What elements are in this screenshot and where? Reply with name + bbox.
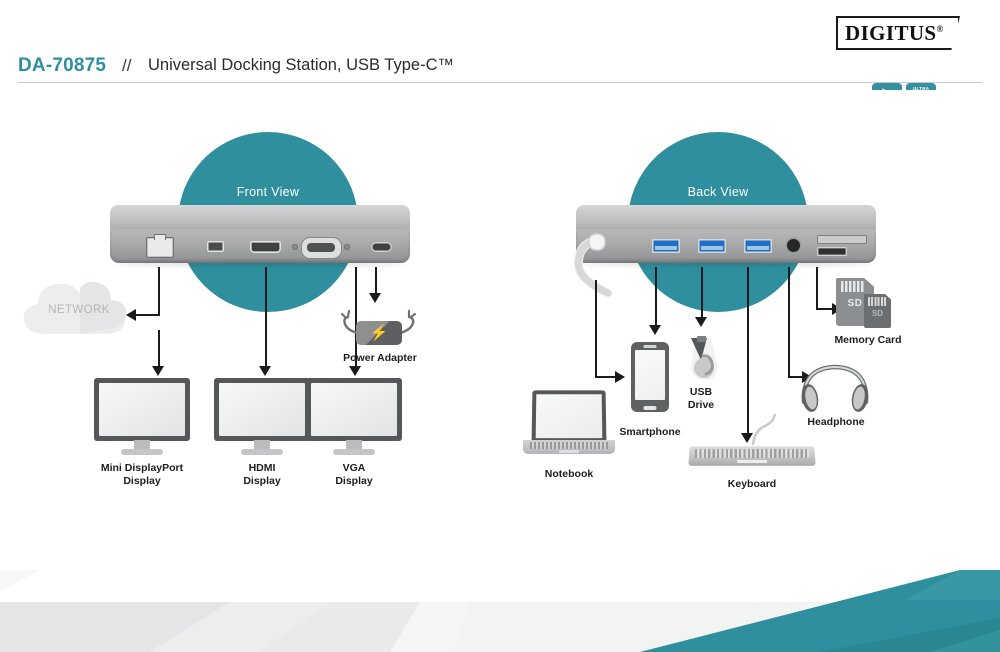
arrow-to-minidp-display — [152, 366, 164, 376]
microsd-card-contacts — [868, 297, 886, 306]
usb-c-host-cable — [570, 231, 640, 311]
title-separator: // — [122, 56, 131, 76]
arrow-to-hdmi-display — [259, 366, 271, 376]
display-mini-displayport — [94, 378, 190, 456]
line-keyboard-vertical — [747, 267, 749, 435]
port-usb3-2[interactable] — [698, 239, 726, 253]
lightning-bolt-icon: ⚡ — [370, 326, 389, 341]
front-view-label: Front View — [178, 185, 358, 199]
footer-decoration — [0, 570, 1000, 652]
notebook-touchpad — [559, 450, 579, 453]
label-line-1: VGA — [343, 462, 366, 474]
line-power-vertical — [375, 267, 377, 295]
label-usb-drive: USB Drive — [668, 386, 734, 411]
label-line-2: Display — [243, 475, 280, 487]
power-adapter-brick: ⚡ — [356, 321, 402, 345]
label-notebook: Notebook — [523, 468, 615, 481]
dock-back-top-shell — [576, 205, 876, 231]
slot-microsd-card[interactable] — [817, 247, 847, 256]
product-code: DA-70875 — [18, 55, 106, 77]
notebook-lid — [532, 390, 607, 442]
sd-card-contacts — [841, 281, 865, 292]
label-line-1: HDMI — [249, 462, 276, 474]
arrow-to-usb-drive — [695, 317, 707, 327]
label-line-2: Drive — [688, 399, 714, 411]
monitor-base — [333, 449, 375, 455]
title-divider — [18, 82, 982, 83]
label-vga-display: VGA Display — [290, 462, 418, 487]
display-hdmi — [214, 378, 310, 456]
title-row: DA-70875 // Universal Docking Station, U… — [18, 55, 982, 79]
keyboard-spacebar — [737, 460, 767, 463]
dock-front-top-shell — [110, 205, 410, 231]
label-line-1: Mini DisplayPort — [101, 462, 183, 474]
monitor-base — [121, 449, 163, 455]
network-cloud-label: NETWORK — [18, 304, 140, 316]
logo-inner: DIGITUS® — [836, 16, 960, 50]
port-vga[interactable] — [301, 237, 342, 259]
vga-screw-left-icon — [292, 244, 298, 250]
diagram-panel: Front View Back View — [18, 90, 982, 570]
port-usb3-1[interactable] — [652, 239, 680, 253]
microsd-card-graphic: SD — [864, 294, 891, 328]
slide-canvas: DIGITUS® DA-70875 // Universal Docking S… — [0, 0, 1000, 652]
smartphone-screen — [635, 350, 665, 400]
dock-back-view — [576, 205, 876, 267]
device-keyboard — [689, 440, 815, 472]
port-audio-jack[interactable] — [787, 239, 800, 252]
digitus-logo: DIGITUS® — [836, 16, 960, 50]
smartphone-speaker — [644, 345, 657, 348]
smartphone-home-button — [644, 406, 657, 410]
product-name: Universal Docking Station, USB Type-C™ — [148, 56, 454, 75]
notebook-keyboard — [530, 442, 608, 449]
line-hdmi-vertical — [265, 267, 267, 368]
line-usb-drive-vertical — [701, 267, 703, 319]
label-smartphone: Smartphone — [604, 426, 696, 439]
line-smartphone-vertical — [655, 267, 657, 327]
slot-sd-card[interactable] — [817, 235, 867, 244]
power-adapter-graphic: ⚡ — [338, 305, 420, 351]
back-view-label: Back View — [628, 185, 808, 199]
device-headphone — [796, 358, 874, 414]
label-mini-displayport-display: Mini DisplayPort Display — [78, 462, 206, 487]
monitor-screen — [311, 383, 397, 436]
logo-wordmark: DIGITUS® — [845, 23, 944, 44]
arrow-to-power-adapter — [369, 293, 381, 303]
arrow-to-notebook — [615, 371, 625, 383]
network-cloud: NETWORK — [18, 276, 140, 338]
arrow-to-smartphone — [649, 325, 661, 335]
label-line-2: Display — [335, 475, 372, 487]
device-smartphone — [631, 342, 669, 412]
power-adapter-label: Power Adapter — [334, 352, 426, 365]
line-ethernet-vertical — [158, 267, 160, 316]
label-memory-card: Memory Card — [816, 334, 920, 347]
dock-front-shadow — [114, 261, 406, 266]
monitor-base — [241, 449, 283, 455]
label-line-2: Display — [123, 475, 160, 487]
port-mini-displayport[interactable] — [207, 241, 224, 252]
label-line-1: USB — [690, 386, 712, 398]
keyboard-keys — [695, 449, 809, 458]
dock-front-view — [110, 205, 410, 267]
monitor-screen — [219, 383, 305, 436]
line-headphone-vertical — [788, 267, 790, 377]
port-rj45-ethernet[interactable] — [146, 237, 174, 258]
port-usb3-3[interactable] — [744, 239, 772, 253]
display-vga — [306, 378, 402, 456]
label-headphone: Headphone — [790, 416, 882, 429]
arrow-to-vga-display — [349, 366, 361, 376]
port-hdmi[interactable] — [250, 241, 281, 253]
device-notebook — [523, 390, 615, 460]
keyboard-cable — [741, 414, 781, 446]
registered-trademark-icon: ® — [937, 24, 944, 34]
port-usb-type-c[interactable] — [371, 242, 392, 252]
line-memorycard-vertical — [816, 267, 818, 309]
notebook-screen — [536, 394, 603, 438]
label-keyboard: Keyboard — [706, 478, 798, 491]
monitor-screen — [99, 383, 185, 436]
device-usb-drive — [677, 334, 725, 390]
microsd-card-label: SD — [864, 309, 891, 318]
vga-screw-right-icon — [344, 244, 350, 250]
line-notebook-vertical — [595, 280, 597, 377]
line-minidp-vertical — [158, 330, 160, 368]
device-memory-card: SD SD — [836, 278, 896, 330]
line-notebook-horizontal — [595, 376, 617, 378]
